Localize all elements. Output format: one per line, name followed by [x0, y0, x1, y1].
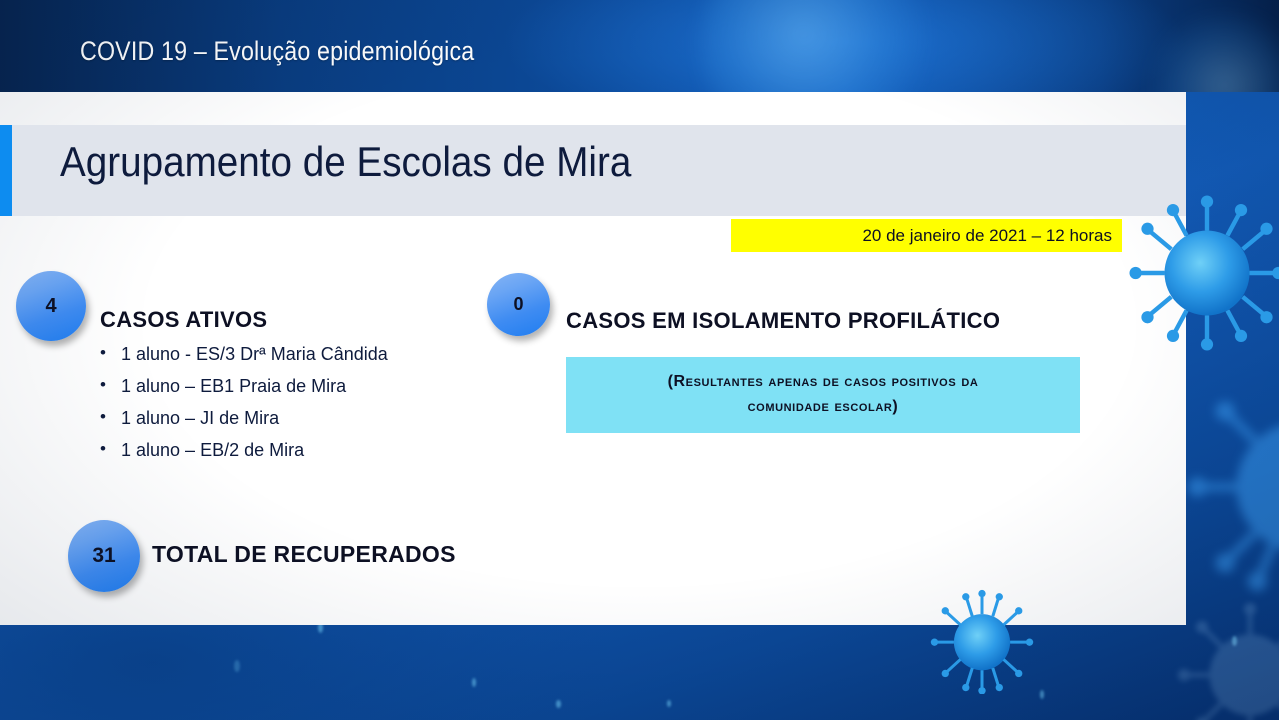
isolation-note-box: (Resultantes apenas de casos positivos d…: [566, 357, 1080, 433]
background-speck: [556, 700, 561, 708]
virus-right-edge-lower-icon: [1186, 372, 1279, 602]
list-item: 1 aluno – EB1 Praia de Mira: [96, 376, 388, 397]
virus-header-large-icon: [700, 0, 930, 92]
slide-kicker-title: COVID 19 – Evolução epidemiológica: [80, 36, 474, 67]
date-banner: 20 de janeiro de 2021 – 12 horas: [731, 219, 1122, 252]
isolation-cases-label: CASOS EM ISOLAMENTO PROFILÁTICO: [566, 308, 1000, 334]
active-cases-count: 4: [45, 295, 56, 318]
recovered-label: TOTAL DE RECUPERADOS: [152, 541, 456, 568]
isolation-cases-count: 0: [513, 294, 523, 315]
background-speck: [667, 700, 671, 707]
isolation-cases-count-bubble: 0: [487, 273, 550, 336]
active-cases-list: 1 aluno - ES/3 Drª Maria Cândida 1 aluno…: [96, 344, 388, 472]
recovered-count: 31: [92, 544, 115, 568]
isolation-note-line-1: (Resultantes apenas de casos positivos d…: [668, 370, 979, 395]
active-cases-label: CASOS ATIVOS: [100, 307, 267, 333]
background-speck: [472, 678, 476, 687]
date-banner-text: 20 de janeiro de 2021 – 12 horas: [862, 226, 1112, 246]
header-band: COVID 19 – Evolução epidemiológica: [0, 0, 1279, 92]
isolation-note-line-2: comunidade escolar): [748, 395, 899, 420]
title-accent-bar: [0, 125, 12, 216]
active-cases-count-bubble: 4: [16, 271, 86, 341]
list-item: 1 aluno – JI de Mira: [96, 408, 388, 429]
virus-header-right-icon: [1150, 10, 1279, 92]
slide: COVID 19 – Evolução epidemiológica Agrup…: [0, 0, 1279, 720]
recovered-count-bubble: 31: [68, 520, 140, 592]
virus-right-edge-upper-icon: [1122, 188, 1279, 358]
page-title: Agrupamento de Escolas de Mira: [60, 138, 631, 186]
list-item: 1 aluno – EB/2 de Mira: [96, 440, 388, 461]
list-item: 1 aluno - ES/3 Drª Maria Cândida: [96, 344, 388, 365]
background-speck: [1040, 690, 1044, 699]
virus-bottom-right-icon: [1175, 600, 1279, 720]
virus-bottom-center-icon: [928, 586, 1036, 694]
background-speck: [234, 660, 240, 672]
